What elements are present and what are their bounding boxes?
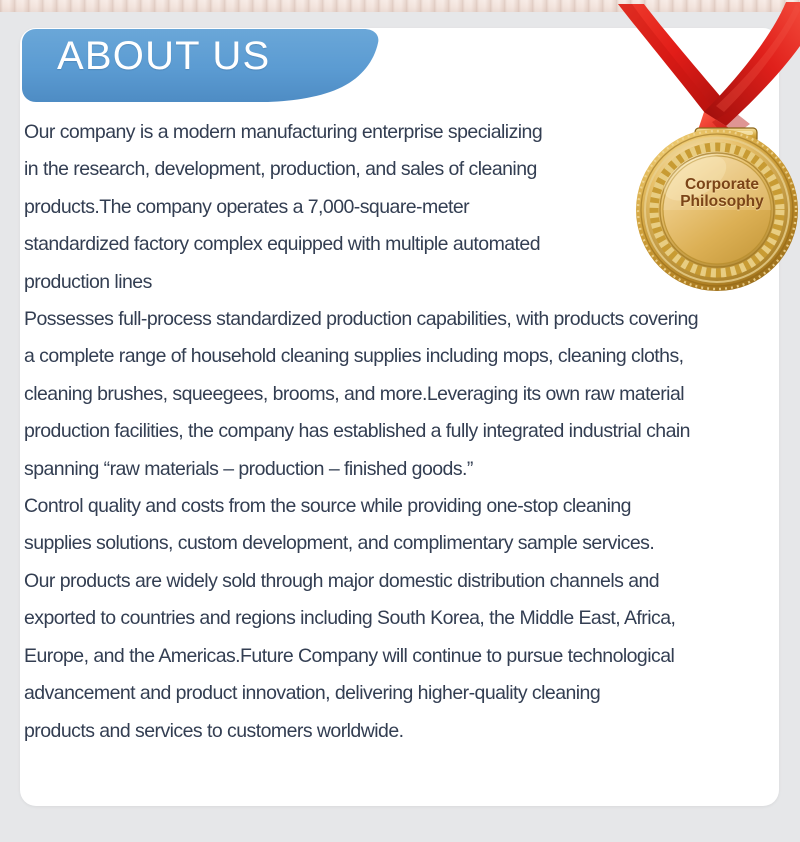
about-us-page: ABOUT US	[0, 0, 800, 842]
page-title: ABOUT US	[57, 36, 270, 76]
paragraph-company-overview: Our company is a modern manufacturing en…	[24, 114, 776, 301]
paragraph-quality-and-markets: Control quality and costs from the sourc…	[24, 488, 776, 750]
about-us-body: Our company is a modern manufacturing en…	[24, 114, 776, 750]
paragraph-production-capabilities: Possesses full-process standardized prod…	[24, 301, 776, 488]
wood-texture-strip	[0, 0, 800, 12]
